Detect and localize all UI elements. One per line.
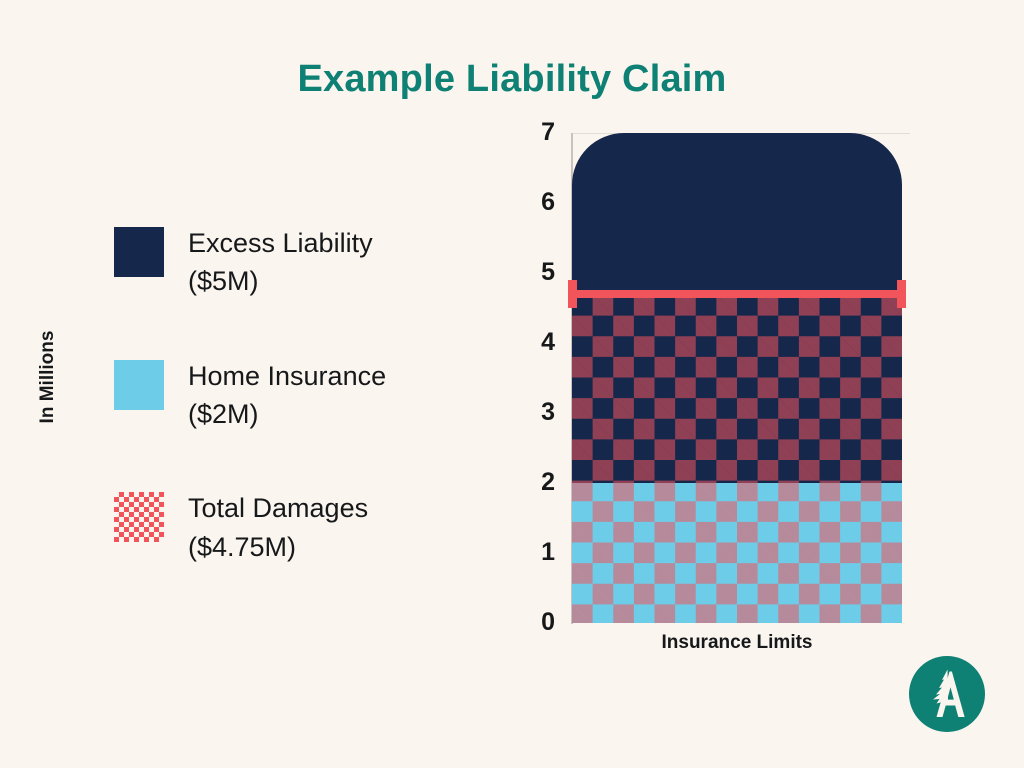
bar-chart: In Millions 7 6 5 4 3 2 1 0 Insurance Li…	[0, 0, 1024, 768]
y-tick-7: 7	[515, 118, 555, 147]
y-tick-6: 6	[515, 188, 555, 217]
y-axis-label: In Millions	[37, 287, 59, 467]
x-axis-label: Insurance Limits	[572, 632, 902, 654]
y-tick-4: 4	[515, 328, 555, 357]
y-tick-5: 5	[515, 258, 555, 287]
bar-overlay-total-damages	[572, 291, 902, 623]
maple-leaf-a-logo	[909, 656, 985, 732]
chart-canvas: Example Liability Claim Excess Liability…	[0, 0, 1024, 768]
y-tick-3: 3	[515, 398, 555, 427]
threshold-cap-left	[568, 280, 577, 308]
threshold-cap-right	[897, 280, 906, 308]
y-tick-1: 1	[515, 538, 555, 567]
y-tick-0: 0	[515, 608, 555, 637]
y-tick-2: 2	[515, 468, 555, 497]
stacked-bar[interactable]	[572, 133, 902, 623]
total-damages-threshold-line	[568, 290, 906, 298]
